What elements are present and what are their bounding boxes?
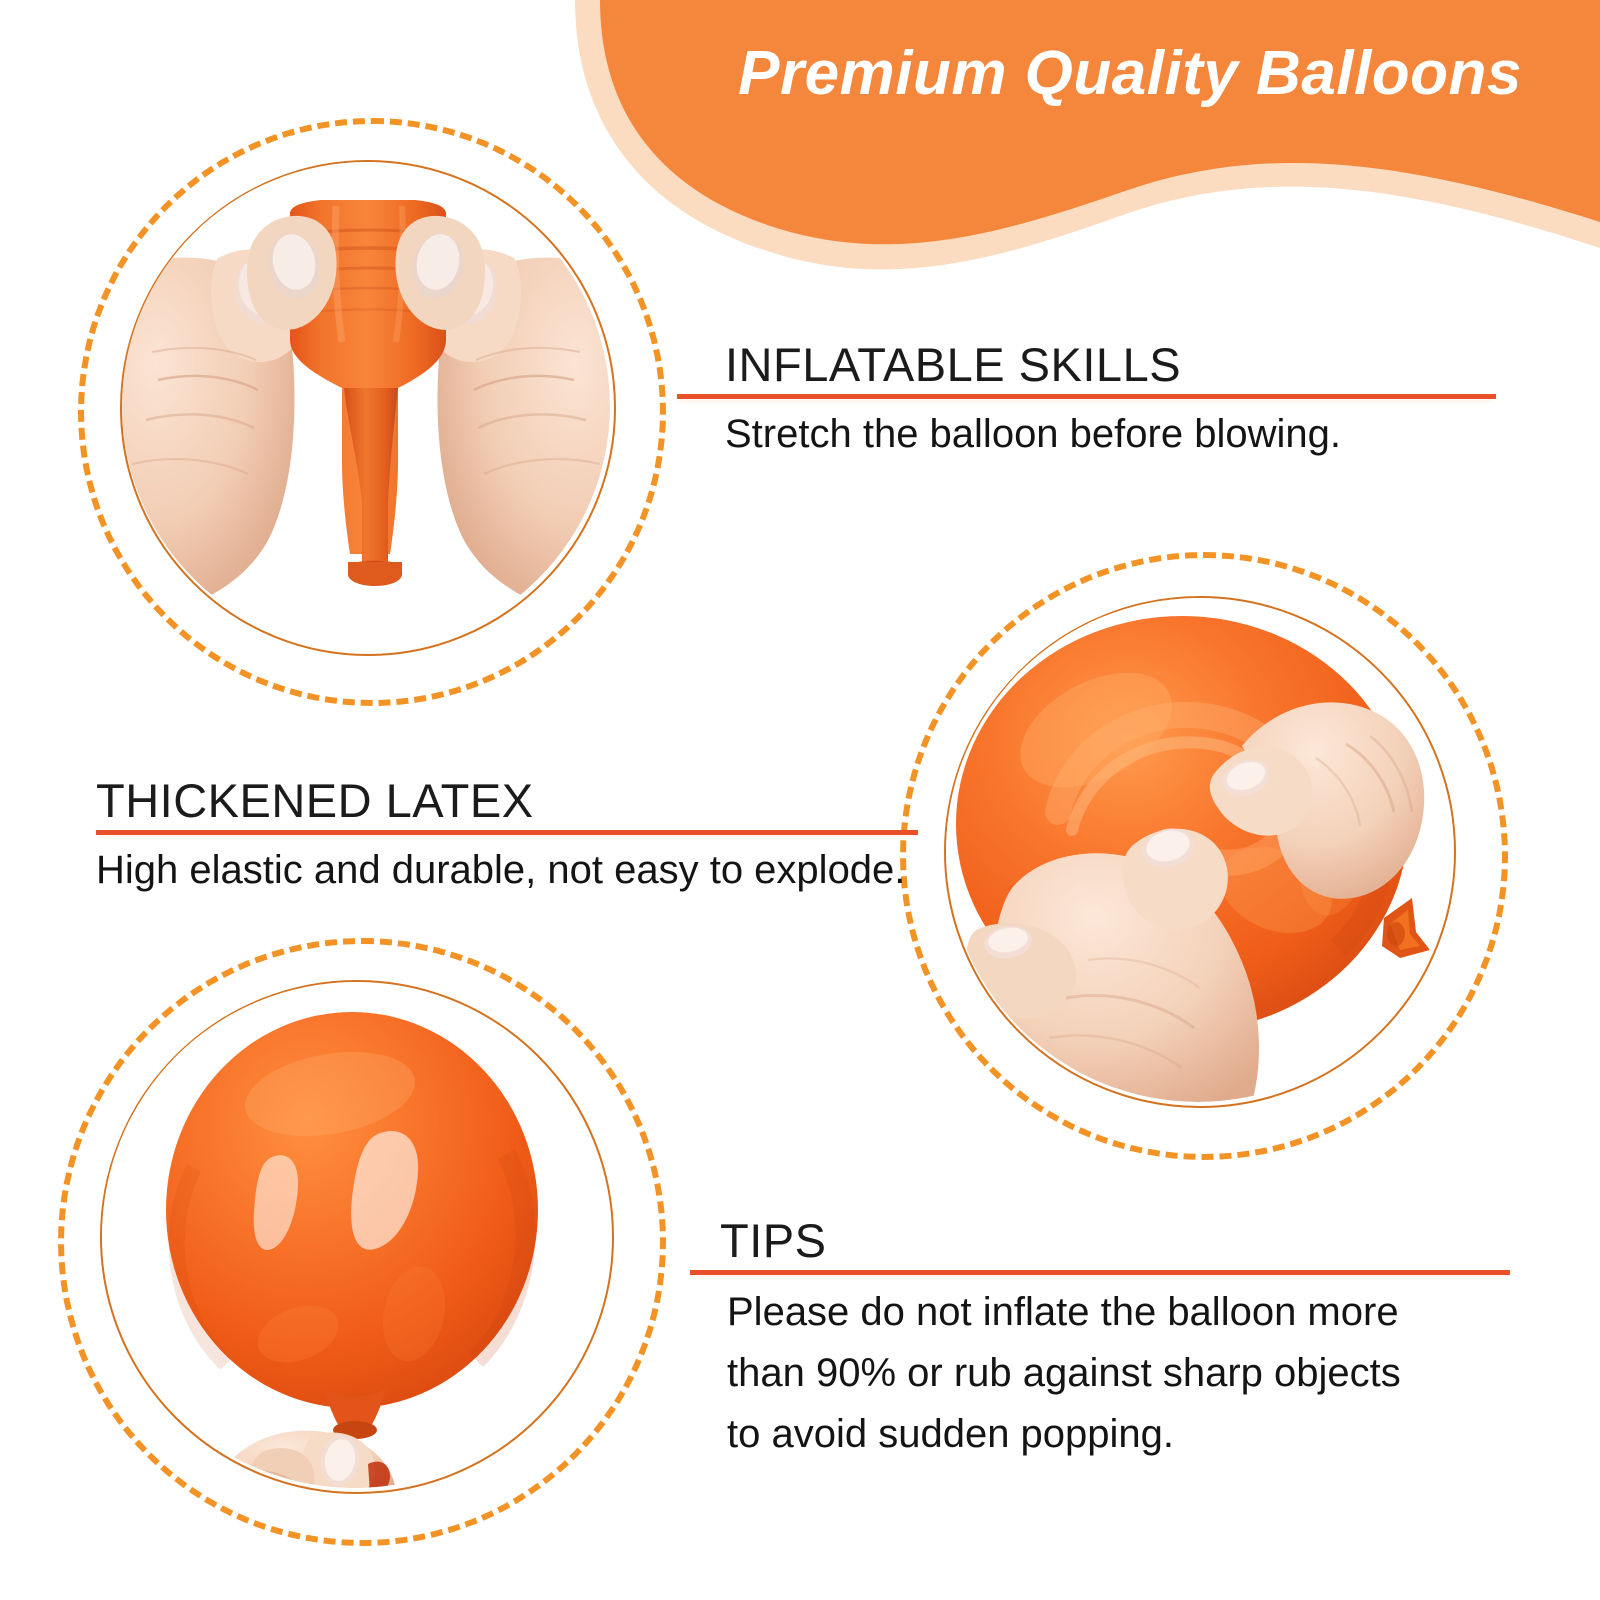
feature-body-2: High elastic and durable, not easy to ex… <box>96 840 936 901</box>
photo-single-balloon <box>102 982 608 1488</box>
feature-heading-1: INFLATABLE SKILLS <box>725 340 1507 389</box>
photo-squeezing-balloon <box>946 598 1450 1102</box>
feature-body-3: Please do not inflate the balloon more t… <box>727 1282 1527 1464</box>
feature-heading-2: THICKENED LATEX <box>96 776 926 825</box>
feature-block-tips: TIPS <box>690 1216 1520 1265</box>
photo-stretching-balloon <box>122 162 610 650</box>
feature-block-inflatable-skills: INFLATABLE SKILLS <box>677 340 1507 389</box>
feature-rule-2 <box>96 830 918 835</box>
infographic-canvas: Premium Quality Balloons <box>0 0 1600 1600</box>
page-title: Premium Quality Balloons <box>690 38 1570 109</box>
feature-body-2-line-1: High elastic and durable, not easy to ex… <box>96 840 936 901</box>
feature-rule-3 <box>690 1270 1510 1275</box>
feature-body-1-line-1: Stretch the balloon before blowing. <box>725 404 1525 465</box>
feature-rule-1 <box>677 394 1496 399</box>
feature-body-3-line-2: than 90% or rub against sharp objects <box>727 1343 1527 1404</box>
feature-heading-3: TIPS <box>720 1216 1520 1265</box>
feature-body-3-line-1: Please do not inflate the balloon more <box>727 1282 1527 1343</box>
feature-body-3-line-3: to avoid sudden popping. <box>727 1404 1527 1465</box>
feature-block-thickened-latex: THICKENED LATEX <box>96 776 926 825</box>
feature-body-1: Stretch the balloon before blowing. <box>725 404 1525 465</box>
